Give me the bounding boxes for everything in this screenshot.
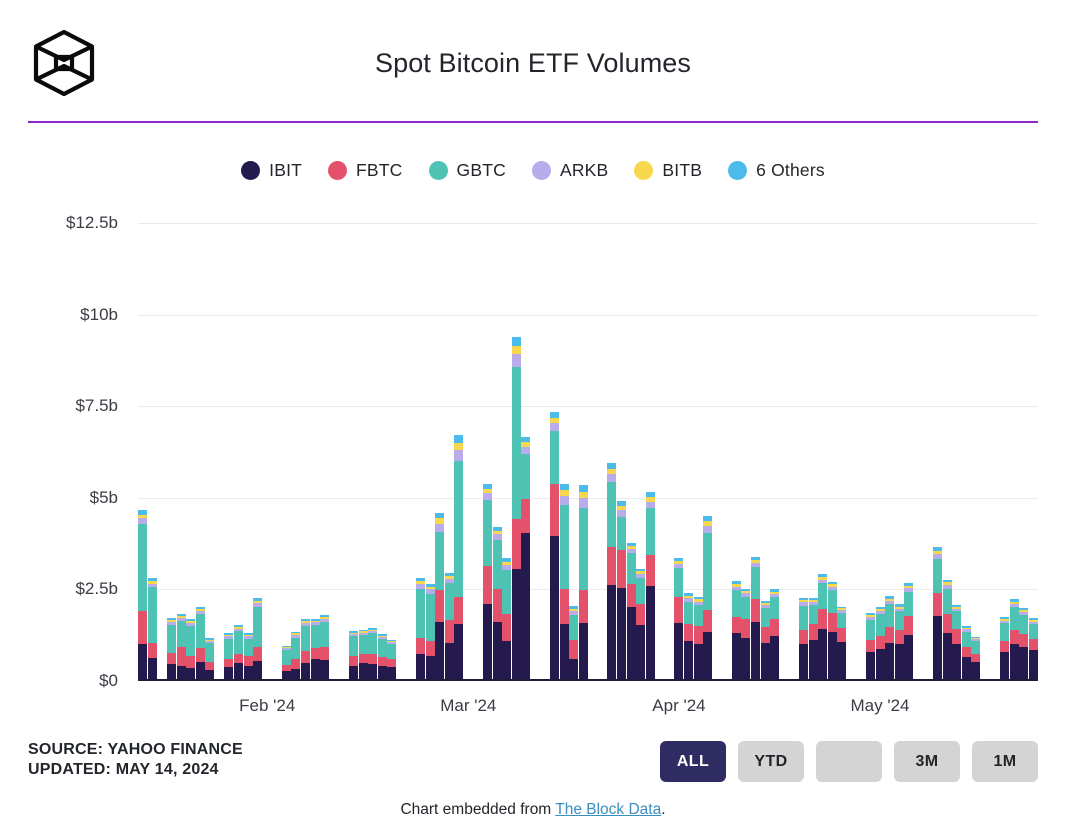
bar-segment-fbtc (732, 617, 741, 634)
legend-item-label: ARKB (560, 160, 608, 181)
bar-segment-ibit (703, 632, 712, 681)
legend-item-label: 6 Others (756, 160, 825, 181)
stacked-bar[interactable] (971, 637, 980, 681)
bar-segment-ibit (560, 624, 569, 681)
bar-segment-ibit (416, 654, 425, 681)
stacked-bar[interactable] (378, 634, 387, 681)
bar-segment-bitb (454, 443, 463, 450)
bar-segment-ibit (674, 623, 683, 681)
bar-segment-gbtc (378, 639, 387, 657)
stacked-bar[interactable] (828, 582, 837, 681)
bar-segment-gbtc (224, 639, 233, 660)
bar-segment-ibit (1019, 647, 1028, 681)
bar-segment-fbtc (885, 627, 894, 642)
bar-segment-ibit (1029, 650, 1038, 682)
bar-segment-gbtc (1000, 623, 1009, 641)
stacked-bar[interactable] (741, 589, 750, 681)
stacked-bar[interactable] (349, 631, 358, 681)
bar-segment-gbtc (502, 570, 511, 614)
bar-segment-ibit (952, 644, 961, 681)
bar-segment-gbtc (493, 540, 502, 589)
bar-segment-gbtc (426, 594, 435, 642)
legend-item-ibit[interactable]: IBIT (241, 160, 302, 181)
legend-item-label: BITB (662, 160, 702, 181)
bar-segment-fbtc (684, 624, 693, 640)
bar-segment-gbtc (809, 605, 818, 624)
bar-segment-arkb (521, 447, 530, 454)
bar-segment-fbtc (521, 499, 530, 533)
bar-segment-fbtc (282, 665, 291, 672)
y-axis-tick-label: $12.5b (0, 213, 118, 233)
bar-segment-arkb (435, 524, 444, 532)
bar-segment-gbtc (943, 589, 952, 615)
stacked-bar[interactable] (636, 569, 645, 681)
bar-segment-fbtc (971, 654, 980, 662)
legend-swatch-icon (241, 161, 260, 180)
stacked-bar[interactable] (359, 630, 368, 681)
bar-segment-gbtc (148, 587, 157, 643)
bar-segment-ibit (454, 624, 463, 681)
stacked-bar[interactable] (904, 583, 913, 681)
bar-segment-fbtc (952, 629, 961, 644)
bar-segment-gbtc (387, 644, 396, 659)
bar-segment-arkb (607, 474, 616, 482)
bar-segment-gbtc (291, 638, 300, 659)
bar-segment-fbtc (244, 656, 253, 666)
chart-legend: IBITFBTCGBTCARKBBITB6 Others (0, 160, 1066, 181)
legend-item-bitb[interactable]: BITB (634, 160, 702, 181)
bar-segment-gbtc (876, 614, 885, 636)
stacked-bar[interactable] (167, 618, 176, 681)
bar-segment-ibit (799, 644, 808, 681)
bar-segment-6-others (454, 435, 463, 443)
stacked-bar[interactable] (703, 516, 712, 681)
y-axis-tick-label: $0 (0, 671, 118, 691)
bar-segment-gbtc (761, 608, 770, 627)
bar-segment-fbtc (933, 593, 942, 616)
legend-item-label: IBIT (269, 160, 302, 181)
bar-segment-ibit (895, 644, 904, 681)
stacked-bar[interactable] (962, 626, 971, 681)
bar-segment-ibit (311, 659, 320, 681)
stacked-bar[interactable] (320, 615, 329, 681)
bar-segment-fbtc (627, 584, 636, 607)
bar-segment-gbtc (694, 605, 703, 626)
stacked-bar[interactable] (282, 645, 291, 681)
bar-segment-ibit (876, 649, 885, 681)
stacked-bar[interactable] (579, 485, 588, 681)
embed-prefix: Chart embedded from (400, 801, 555, 818)
bar-segment-fbtc (962, 647, 971, 657)
stacked-bar[interactable] (837, 607, 846, 681)
range-button-3m[interactable]: 3M (894, 741, 960, 782)
bar-segment-ibit (809, 640, 818, 681)
bar-segment-arkb (617, 510, 626, 517)
bar-segment-arkb (454, 450, 463, 461)
bar-segment-fbtc (320, 647, 329, 659)
bar-segment-gbtc (952, 611, 961, 629)
bar-segment-gbtc (674, 568, 683, 597)
x-axis-tick-label: Mar '24 (440, 696, 496, 716)
plot-area (138, 223, 1038, 681)
stacked-bar[interactable] (1019, 608, 1028, 681)
bar-segment-fbtc (646, 555, 655, 587)
stacked-bar[interactable] (674, 558, 683, 681)
bar-segment-ibit (607, 585, 616, 681)
bar-segment-ibit (502, 641, 511, 681)
bar-segment-fbtc (387, 659, 396, 667)
bar-segment-arkb (550, 423, 559, 431)
bar-segment-gbtc (837, 613, 846, 628)
bar-segment-fbtc (368, 654, 377, 664)
bar-segment-fbtc (359, 654, 368, 664)
bar-segment-ibit (904, 635, 913, 681)
bar-segment-arkb (703, 526, 712, 533)
legend-swatch-icon (728, 161, 747, 180)
bar-segment-gbtc (186, 626, 195, 656)
bar-segment-fbtc (435, 590, 444, 622)
bar-segment-ibit (445, 643, 454, 681)
stacked-bar[interactable] (1000, 617, 1009, 681)
stacked-bar[interactable] (799, 597, 808, 681)
bar-segment-ibit (741, 638, 750, 681)
bar-segment-ibit (569, 659, 578, 681)
bar-segment-fbtc (607, 547, 616, 585)
bar-segment-fbtc (138, 611, 147, 643)
embed-note: Chart embedded from The Block Data. (0, 801, 1066, 819)
bar-segment-fbtc (224, 659, 233, 667)
bar-segment-fbtc (311, 648, 320, 659)
bar-segment-fbtc (799, 630, 808, 644)
bar-segment-fbtc (196, 648, 205, 662)
stacked-bar[interactable] (550, 412, 559, 681)
bar-segment-fbtc (674, 597, 683, 623)
bar-segment-arkb (512, 354, 521, 367)
stacked-bar[interactable] (617, 501, 626, 681)
the-block-data-link[interactable]: The Block Data (555, 801, 661, 818)
bar-segment-arkb (483, 493, 492, 500)
bar-segment-gbtc (828, 590, 837, 613)
bar-segment-fbtc (426, 641, 435, 656)
bar-segment-gbtc (617, 517, 626, 551)
legend-item-6-others[interactable]: 6 Others (728, 160, 825, 181)
legend-swatch-icon (532, 161, 551, 180)
stacked-bar[interactable] (818, 574, 827, 681)
bar-segment-fbtc (560, 589, 569, 624)
stacked-bar[interactable] (627, 543, 636, 681)
stacked-bar[interactable] (933, 547, 942, 681)
stacked-bar[interactable] (426, 584, 435, 681)
bar-segment-gbtc (646, 508, 655, 555)
bar-segment-gbtc (751, 567, 760, 599)
legend-item-fbtc[interactable]: FBTC (328, 160, 403, 181)
bar-segment-ibit (837, 642, 846, 681)
bar-segment-ibit (493, 622, 502, 681)
bar-segment-fbtc (694, 626, 703, 644)
bar-segment-fbtc (1019, 634, 1028, 647)
stacked-bar[interactable] (512, 337, 521, 681)
bar-segment-fbtc (569, 640, 578, 659)
range-button-blank[interactable] (816, 741, 882, 782)
bar-segment-arkb (579, 498, 588, 508)
bar-segment-gbtc (885, 604, 894, 627)
range-button-1m[interactable]: 1M (972, 741, 1038, 782)
bar-segment-fbtc (1029, 639, 1038, 650)
bar-segment-gbtc (569, 615, 578, 640)
bar-segment-fbtc (301, 651, 310, 663)
bar-segment-gbtc (301, 626, 310, 651)
bar-segment-fbtc (502, 614, 511, 640)
stacked-bar[interactable] (943, 580, 952, 681)
stacked-bar[interactable] (445, 573, 454, 681)
bar-segment-fbtc (1000, 641, 1009, 653)
stacked-bar[interactable] (770, 589, 779, 681)
range-button-ytd[interactable]: YTD (738, 741, 804, 782)
bar-segment-ibit (1000, 652, 1009, 681)
bar-segment-gbtc (799, 606, 808, 630)
bar-segment-gbtc (521, 454, 530, 499)
stacked-bar[interactable] (866, 613, 875, 681)
bar-segment-gbtc (770, 597, 779, 618)
stacked-bar[interactable] (138, 510, 147, 681)
bar-segment-gbtc (1019, 615, 1028, 634)
legend-item-label: GBTC (457, 160, 506, 181)
bar-segment-ibit (962, 657, 971, 681)
bar-segment-ibit (866, 652, 875, 681)
stacked-bar[interactable] (186, 619, 195, 681)
bar-segment-fbtc (904, 616, 913, 635)
bar-segment-gbtc (177, 621, 186, 647)
bar-segment-fbtc (234, 654, 243, 664)
legend-swatch-icon (328, 161, 347, 180)
stacked-bar[interactable] (234, 625, 243, 681)
bar-segment-gbtc (741, 597, 750, 619)
stacked-bar[interactable] (684, 593, 693, 681)
legend-item-gbtc[interactable]: GBTC (429, 160, 506, 181)
bar-segment-gbtc (703, 533, 712, 610)
bar-segment-ibit (521, 533, 530, 681)
stacked-bar[interactable] (301, 619, 310, 681)
bar-segment-fbtc (454, 597, 463, 624)
y-axis-tick-label: $2.5b (0, 579, 118, 599)
stacked-bar[interactable] (177, 614, 186, 681)
bar-segment-gbtc (627, 553, 636, 584)
stacked-bar[interactable] (761, 601, 770, 681)
bar-segment-gbtc (454, 461, 463, 597)
bar-segment-ibit (943, 633, 952, 681)
bar-segment-ibit (828, 632, 837, 681)
bar-segment-gbtc (368, 633, 377, 654)
bar-segment-ibit (761, 643, 770, 681)
bar-segment-gbtc (962, 632, 971, 647)
bar-segment-ibit (694, 644, 703, 681)
stacked-bar[interactable] (435, 512, 444, 681)
legend-item-arkb[interactable]: ARKB (532, 160, 608, 181)
stacked-bar[interactable] (952, 605, 961, 681)
bar-segment-fbtc (378, 657, 387, 666)
source-line: SOURCE: YAHOO FINANCE (28, 740, 243, 760)
header-divider (28, 121, 1038, 123)
bar-segment-gbtc (311, 625, 320, 648)
bar-segment-gbtc (904, 592, 913, 616)
stacked-bar[interactable] (311, 619, 320, 681)
stacked-bar[interactable] (646, 492, 655, 681)
legend-swatch-icon (429, 161, 448, 180)
bar-segment-bitb (512, 346, 521, 354)
stacked-bar[interactable] (416, 578, 425, 681)
stacked-bar[interactable] (291, 632, 300, 681)
bar-segment-fbtc (550, 484, 559, 536)
bar-segment-6-others (512, 337, 521, 346)
bar-segment-gbtc (933, 559, 942, 593)
bar-segment-gbtc (866, 620, 875, 640)
stacked-bar[interactable] (569, 606, 578, 681)
stacked-bar[interactable] (368, 628, 377, 681)
x-axis-tick-label: May '24 (851, 696, 910, 716)
bar-segment-ibit (138, 644, 147, 681)
bar-segment-gbtc (579, 508, 588, 590)
bar-segment-gbtc (550, 431, 559, 484)
legend-swatch-icon (634, 161, 653, 180)
bar-segment-gbtc (253, 607, 262, 647)
bar-segment-ibit (818, 629, 827, 681)
x-axis-tick-label: Feb '24 (239, 696, 295, 716)
bar-segment-gbtc (1010, 607, 1019, 630)
stacked-bar[interactable] (1029, 618, 1038, 681)
stacked-bar[interactable] (224, 633, 233, 681)
stacked-bar[interactable] (607, 463, 616, 681)
stacked-bar[interactable] (809, 598, 818, 681)
bar-segment-fbtc (1010, 630, 1019, 645)
bar-segment-ibit (483, 604, 492, 681)
stacked-bar[interactable] (694, 597, 703, 681)
updated-line: UPDATED: MAY 14, 2024 (28, 760, 243, 780)
range-selector[interactable]: ALLYTD3M1M (660, 741, 1038, 782)
bar-segment-ibit (617, 588, 626, 681)
bar-segment-ibit (512, 569, 521, 681)
stacked-bar[interactable] (502, 558, 511, 681)
stacked-bar[interactable] (205, 638, 214, 681)
stacked-bar[interactable] (196, 607, 205, 681)
bar-segment-fbtc (177, 647, 186, 666)
stacked-bar[interactable] (521, 437, 530, 681)
bar-segment-gbtc (732, 590, 741, 616)
bar-segment-gbtc (607, 482, 616, 546)
stacked-bar[interactable] (885, 596, 894, 681)
bar-segment-gbtc (244, 639, 253, 657)
bar-segment-fbtc (809, 624, 818, 640)
bar-segment-6-others (579, 485, 588, 492)
bar-segment-fbtc (876, 636, 885, 649)
bar-segment-ibit (320, 660, 329, 681)
range-button-all[interactable]: ALL (660, 741, 726, 782)
source-block: SOURCE: YAHOO FINANCE UPDATED: MAY 14, 2… (28, 740, 243, 780)
bar-segment-fbtc (445, 620, 454, 643)
bar-segment-gbtc (320, 622, 329, 648)
y-axis-tick-label: $10b (0, 305, 118, 325)
stacked-bar[interactable] (895, 604, 904, 681)
bar-segment-fbtc (416, 638, 425, 653)
stacked-bar[interactable] (732, 581, 741, 681)
stacked-bar[interactable] (493, 527, 502, 681)
stacked-bar[interactable] (751, 557, 760, 681)
bar-segment-fbtc (741, 619, 750, 638)
x-axis-tick-label: Apr '24 (652, 696, 705, 716)
stacked-bar[interactable] (253, 598, 262, 681)
y-axis-tick-label: $5b (0, 488, 118, 508)
stacked-bar[interactable] (483, 484, 492, 681)
y-axis-tick-label: $7.5b (0, 396, 118, 416)
bar-segment-ibit (732, 633, 741, 681)
bar-segment-fbtc (291, 659, 300, 669)
legend-item-label: FBTC (356, 160, 403, 181)
chart-page: Spot Bitcoin ETF Volumes IBITFBTCGBTCARK… (0, 0, 1066, 832)
bar-segment-ibit (579, 623, 588, 681)
bar-segment-fbtc (483, 566, 492, 604)
stacked-bar[interactable] (454, 435, 463, 681)
page-title: Spot Bitcoin ETF Volumes (0, 48, 1066, 79)
stacked-bar[interactable] (876, 607, 885, 681)
bar-segment-gbtc (818, 583, 827, 609)
x-axis-labels: Feb '24Mar '24Apr '24May '24 (138, 696, 1038, 726)
bar-segment-gbtc (445, 583, 454, 620)
stacked-bar[interactable] (244, 633, 253, 681)
bar-segment-fbtc (253, 647, 262, 662)
bar-series-container (138, 223, 1038, 681)
bar-segment-ibit (435, 622, 444, 681)
bar-segment-gbtc (167, 625, 176, 654)
bar-segment-gbtc (636, 578, 645, 604)
bar-segment-fbtc (186, 656, 195, 668)
bar-segment-fbtc (205, 662, 214, 670)
stacked-bar[interactable] (1010, 599, 1019, 681)
bar-segment-ibit (885, 643, 894, 681)
bar-segment-gbtc (1029, 624, 1038, 639)
bar-segment-gbtc (684, 602, 693, 625)
bar-segment-6-others (560, 484, 569, 491)
bar-segment-fbtc (493, 589, 502, 621)
bar-segment-ibit (751, 622, 760, 681)
bar-segment-fbtc (636, 604, 645, 625)
bar-segment-gbtc (971, 641, 980, 654)
bar-segment-gbtc (416, 589, 425, 638)
bar-segment-ibit (627, 607, 636, 681)
bar-segment-gbtc (196, 614, 205, 648)
bar-segment-ibit (148, 658, 157, 681)
bar-segment-gbtc (205, 643, 214, 662)
stacked-bar[interactable] (387, 640, 396, 681)
bar-segment-gbtc (895, 611, 904, 629)
bar-segment-gbtc (483, 500, 492, 566)
bar-segment-gbtc (234, 631, 243, 654)
bar-segment-fbtc (866, 640, 875, 652)
bar-segment-fbtc (837, 628, 846, 642)
bar-segment-fbtc (617, 550, 626, 587)
bar-segment-ibit (550, 536, 559, 681)
x-axis-baseline (138, 679, 1038, 681)
bar-segment-gbtc (138, 524, 147, 611)
bar-segment-fbtc (703, 610, 712, 631)
bar-segment-gbtc (282, 650, 291, 665)
bar-segment-ibit (1010, 644, 1019, 681)
bar-segment-fbtc (770, 619, 779, 637)
bar-segment-fbtc (761, 627, 770, 642)
bar-segment-gbtc (349, 636, 358, 656)
bar-segment-arkb (646, 502, 655, 509)
stacked-bar[interactable] (148, 578, 157, 681)
bar-segment-gbtc (359, 635, 368, 654)
stacked-bar[interactable] (560, 484, 569, 681)
